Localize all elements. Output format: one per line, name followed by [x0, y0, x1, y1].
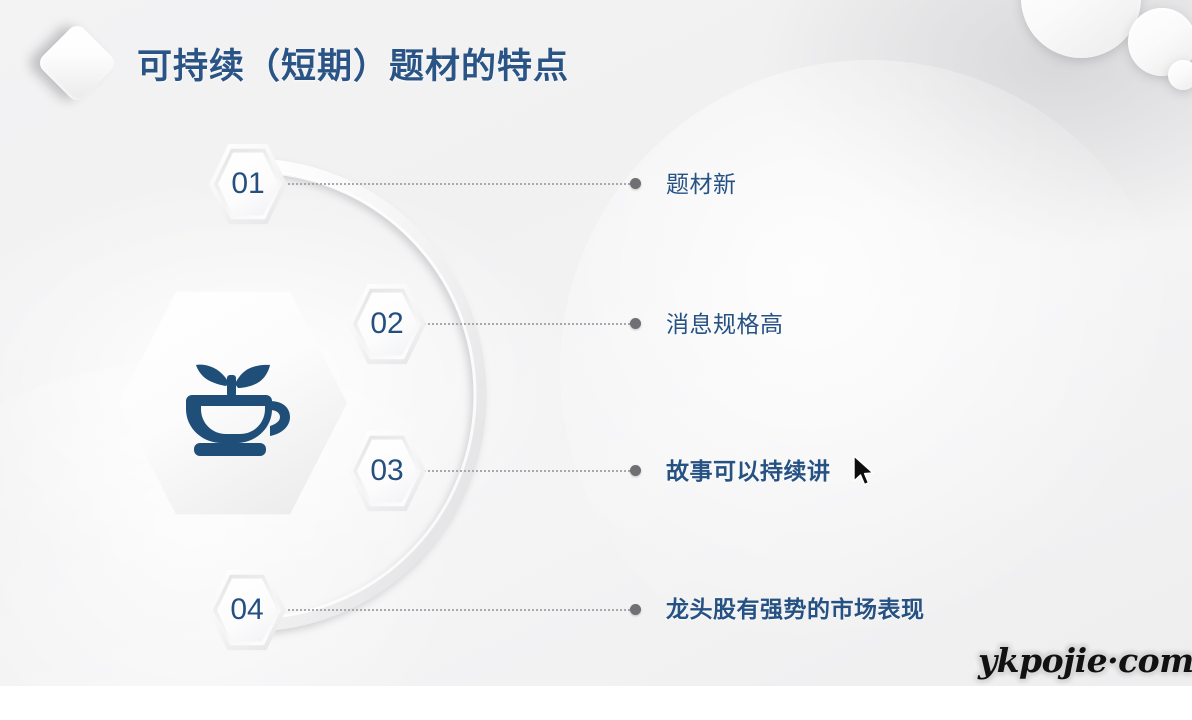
- step-number: 02: [348, 283, 426, 365]
- connector-dot-icon: [630, 318, 641, 329]
- connector-line: [424, 323, 634, 327]
- step-label-04: 龙头股有强势的市场表现: [666, 590, 925, 624]
- step-number: 03: [348, 430, 426, 512]
- slide-canvas: 可持续（短期）题材的特点: [0, 0, 1192, 720]
- connector-dot-icon: [630, 465, 641, 476]
- step-number: 01: [209, 143, 287, 225]
- connector-dot-icon: [630, 604, 641, 615]
- step-node-02[interactable]: 02: [348, 283, 426, 365]
- diamond-logo-icon: [36, 22, 118, 104]
- page-title: 可持续（短期）题材的特点: [137, 38, 569, 89]
- step-number: 04: [208, 569, 286, 651]
- connector-line: [424, 470, 634, 474]
- title-row: 可持续（短期）题材的特点: [0, 0, 1192, 120]
- connector-line: [288, 183, 634, 187]
- step-node-04[interactable]: 04: [208, 569, 286, 651]
- step-label-01: 题材新: [666, 165, 737, 199]
- teacup-with-leaves-icon: [174, 347, 292, 459]
- step-label-02: 消息规格高: [666, 305, 784, 339]
- connector-dot-icon: [630, 178, 641, 189]
- slide-bottom-band: [0, 686, 1192, 720]
- step-label-03: 故事可以持续讲: [666, 452, 831, 486]
- step-node-01[interactable]: 01: [209, 143, 287, 225]
- center-icon-wrap: [119, 287, 347, 519]
- step-node-03[interactable]: 03: [348, 430, 426, 512]
- connector-line: [288, 609, 634, 613]
- watermark: ykpojie·com: [978, 641, 1192, 680]
